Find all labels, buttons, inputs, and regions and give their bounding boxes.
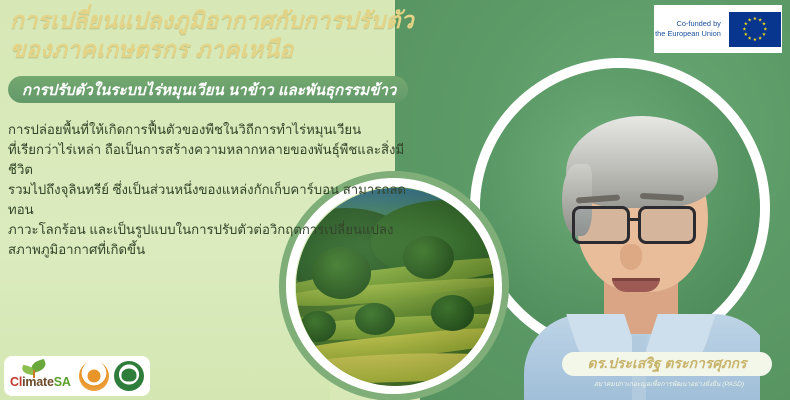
eu-flag-icon bbox=[729, 12, 781, 47]
eu-star-icon bbox=[744, 22, 748, 26]
eu-funding-badge: Co-funded by the European Union bbox=[654, 5, 782, 53]
page-title: การเปลี่ยนแปลงภูมิอากาศกับการปรับตัว ของ… bbox=[10, 6, 480, 64]
eu-star-icon bbox=[744, 32, 748, 36]
eu-text-line-2: the European Union bbox=[655, 29, 721, 39]
eu-star-icon bbox=[758, 18, 762, 22]
eu-star-icon bbox=[742, 27, 746, 31]
body-line-4: ภาวะโลกร้อน และเป็นรูปแบบในการปรับตัวต่อ… bbox=[8, 220, 408, 240]
eu-funding-text: Co-funded by the European Union bbox=[655, 19, 721, 39]
climatesa-part-3: SA bbox=[54, 375, 71, 389]
body-line-1: การปล่อยพื้นที่ให้เกิดการฟื้นตัวของพืชใน… bbox=[8, 120, 408, 140]
logo-strip: ClimateSA bbox=[4, 356, 150, 396]
eyeglass-lens-left bbox=[572, 206, 630, 244]
pasd-circle-logo bbox=[79, 361, 109, 391]
presenter-name: ดร.ประเสริฐ ตระการศุภกร bbox=[588, 353, 747, 375]
presenter-affiliation: สมาคมปกาเกอะญอเพื่อการพัฒนาอย่างยั่งยืน … bbox=[556, 378, 782, 389]
portrait-nose bbox=[620, 244, 642, 270]
climatesa-wordmark: ClimateSA bbox=[10, 375, 80, 389]
eyeglasses-icon bbox=[570, 206, 716, 246]
green-circle-logo bbox=[114, 361, 144, 391]
eu-star-icon bbox=[753, 17, 757, 21]
body-line-2: ที่เรียกว่าไร่เหล่า ถือเป็นการสร้างความห… bbox=[8, 140, 408, 180]
climatesa-part-1: Cl bbox=[10, 375, 22, 389]
eu-star-icon bbox=[748, 36, 752, 40]
portrait-mouth bbox=[612, 278, 660, 292]
eu-star-icon bbox=[758, 36, 762, 40]
body-line-5: สภาพภูมิอากาศที่เกิดขึ้น bbox=[8, 240, 408, 260]
eu-star-icon bbox=[762, 32, 766, 36]
climatesa-logo: ClimateSA bbox=[10, 360, 74, 392]
slide-canvas: การเปลี่ยนแปลงภูมิอากาศกับการปรับตัว ของ… bbox=[0, 0, 790, 400]
eu-star-icon bbox=[763, 27, 767, 31]
eu-star-icon bbox=[762, 22, 766, 26]
presenter-name-pill: ดร.ประเสริฐ ตระการศุภกร bbox=[562, 352, 772, 376]
body-paragraph: การปล่อยพื้นที่ให้เกิดการฟื้นตัวของพืชใน… bbox=[8, 120, 408, 260]
page-title-line-2: ของภาคเกษตรกร ภาคเหนือ bbox=[10, 35, 480, 64]
eu-star-icon bbox=[748, 18, 752, 22]
subtitle-banner: การปรับตัวในระบบไร่หมุนเวียน นาข้าว และพ… bbox=[8, 76, 408, 103]
page-title-line-1: การเปลี่ยนแปลงภูมิอากาศกับการปรับตัว bbox=[10, 6, 480, 35]
eu-star-icon bbox=[753, 38, 757, 42]
climatesa-part-2: imate bbox=[22, 375, 54, 389]
presenter-portrait-photo bbox=[480, 68, 760, 400]
subtitle-text: การปรับตัวในระบบไร่หมุนเวียน นาข้าว และพ… bbox=[8, 78, 396, 102]
eu-text-line-1: Co-funded by bbox=[655, 19, 721, 29]
body-line-3: รวมไปถึงจุลินทรีย์ ซึ่งเป็นส่วนหนึ่งของแ… bbox=[8, 180, 408, 220]
eyeglass-lens-right bbox=[638, 206, 696, 244]
